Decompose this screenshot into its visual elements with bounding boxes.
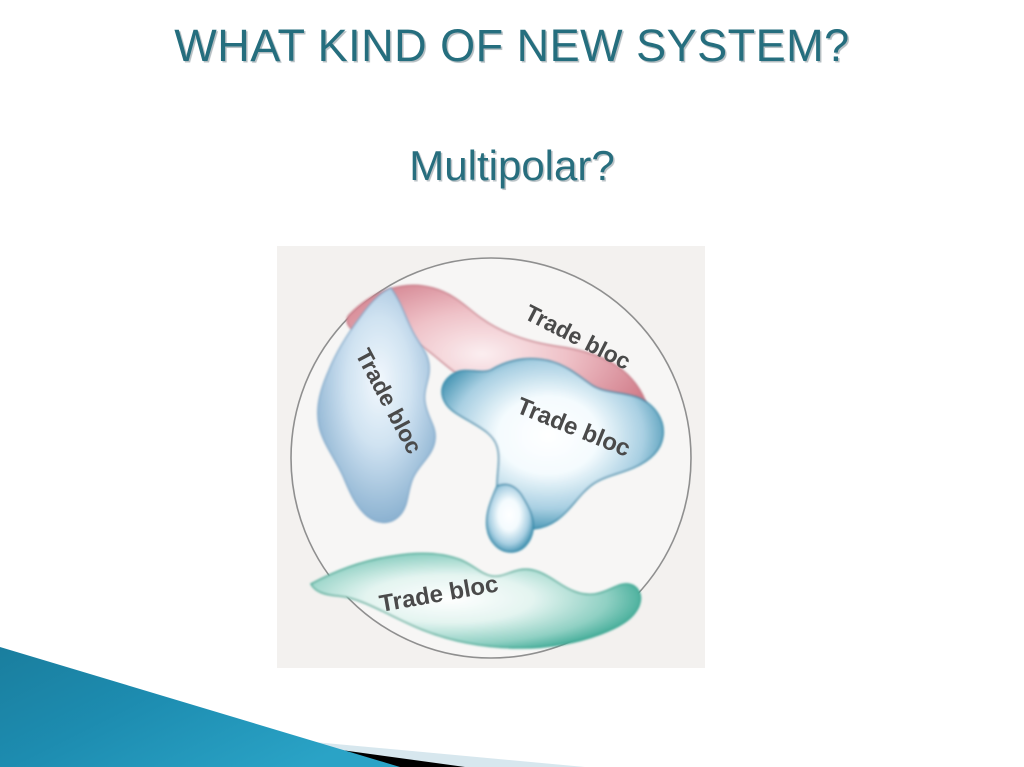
slide: WHAT KIND OF NEW SYSTEM? Multipolar? (0, 0, 1024, 767)
trade-blocs-diagram: Trade bloc Trade bloc Trade bloc Trade b… (277, 246, 705, 668)
black-wedge (0, 703, 465, 767)
pale-wedge (0, 713, 585, 767)
slide-subtitle: Multipolar? (0, 142, 1024, 190)
page-title: WHAT KIND OF NEW SYSTEM? (0, 20, 1024, 72)
trade-blocs-diagram-svg: Trade bloc Trade bloc Trade bloc Trade b… (277, 246, 705, 668)
